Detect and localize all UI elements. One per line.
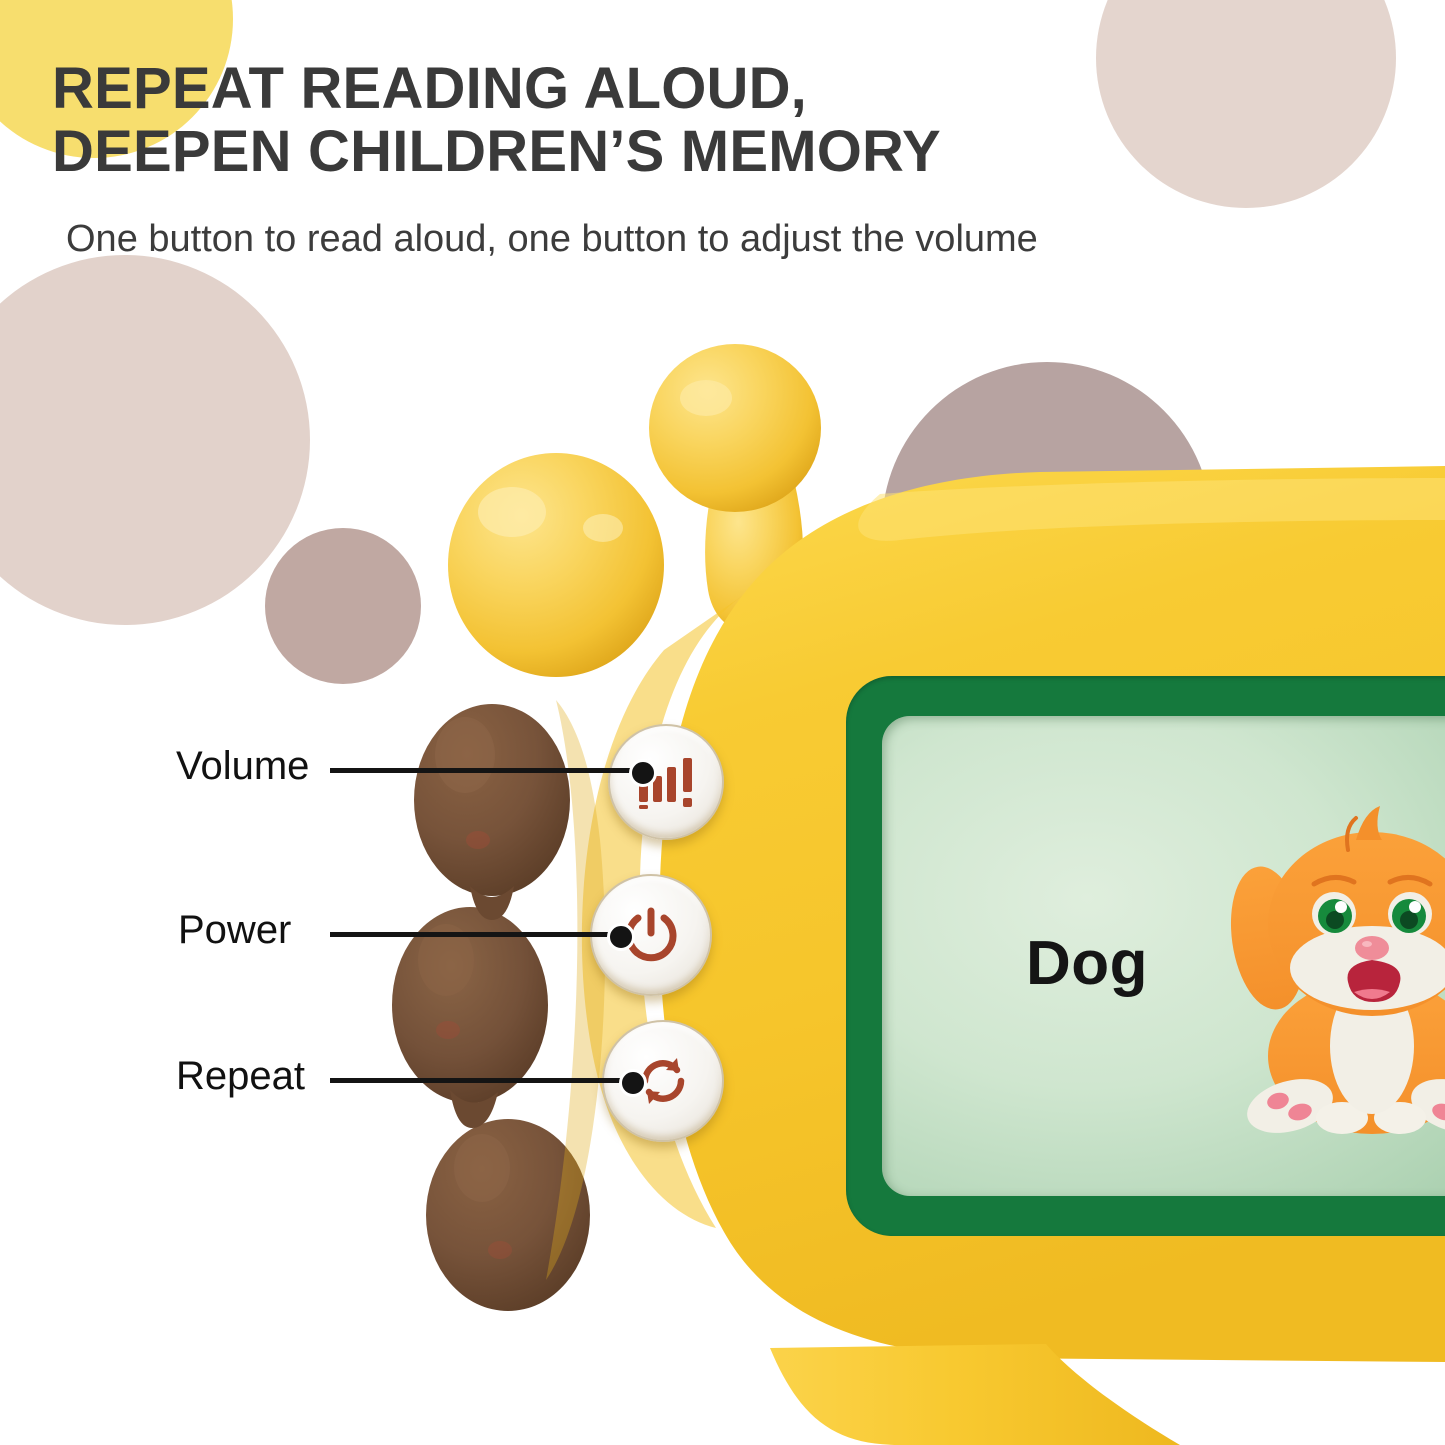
leader-line-volume — [330, 768, 642, 773]
leader-dot-repeat — [619, 1069, 647, 1097]
volume-button[interactable] — [608, 724, 724, 840]
leader-line-repeat — [330, 1078, 632, 1083]
callout-label-volume: Volume — [176, 744, 309, 789]
decor-circle-beige-top-left — [0, 255, 310, 625]
leader-dot-volume — [629, 759, 657, 787]
leader-line-power — [330, 932, 620, 937]
callout-label-repeat: Repeat — [176, 1054, 305, 1099]
infographic-canvas: REPEAT READING ALOUD, DEEPEN CHILDREN’S … — [0, 0, 1445, 1445]
page-title: REPEAT READING ALOUD, DEEPEN CHILDREN’S … — [52, 58, 1302, 183]
puppy-illustration-icon — [1182, 788, 1445, 1168]
device-screen-bezel: Dog — [846, 676, 1445, 1236]
device-screen: Dog — [882, 716, 1445, 1196]
page-subtitle: One button to read aloud, one button to … — [52, 183, 1302, 261]
decor-circle-mauve-left — [265, 528, 421, 684]
screen-word-label: Dog — [1026, 928, 1148, 999]
leader-dot-power — [607, 923, 635, 951]
decor-circle-mauve-center — [882, 362, 1212, 692]
callout-label-power: Power — [178, 908, 291, 953]
header-block: REPEAT READING ALOUD, DEEPEN CHILDREN’S … — [52, 58, 1302, 261]
